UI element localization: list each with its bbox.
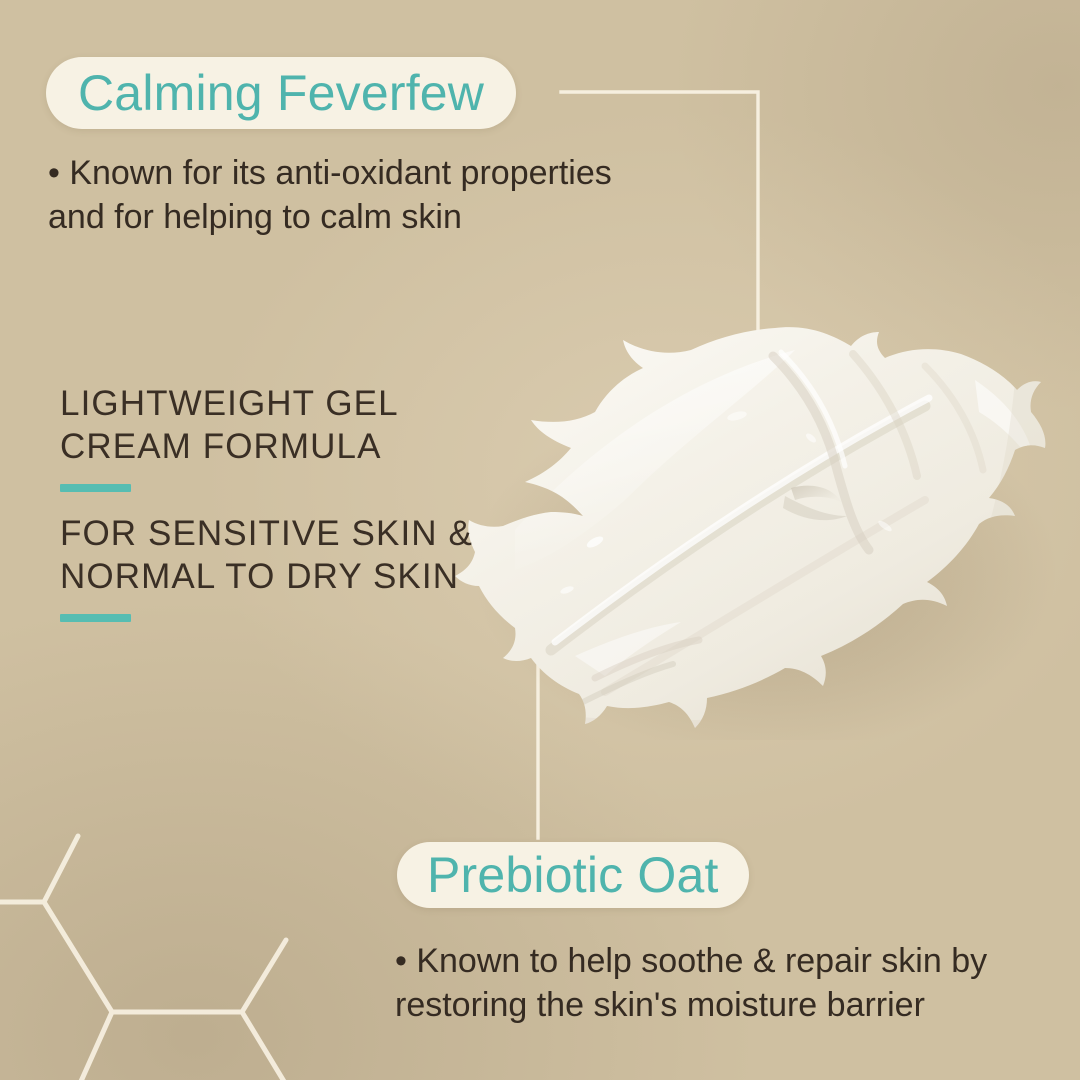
- feature-line: NORMAL TO DRY SKIN: [60, 555, 473, 598]
- feature-for-sensitive-skin: FOR SENSITIVE SKIN & NORMAL TO DRY SKIN: [60, 512, 473, 622]
- cream-swatch: [455, 320, 1055, 740]
- feature-lightweight-gel-cream-formula: LIGHTWEIGHT GEL CREAM FORMULA: [60, 382, 399, 492]
- infographic-canvas: Calming Feverfew • Known for its anti-ox…: [0, 0, 1080, 1080]
- feature-line: CREAM FORMULA: [60, 425, 399, 468]
- feature-divider-rule: [60, 614, 131, 622]
- feature-line: LIGHTWEIGHT GEL: [60, 382, 399, 425]
- callout-bullets-prebiotic-oat: • Known to help soothe & repair skin by …: [395, 940, 1045, 1027]
- feature-divider-rule: [60, 484, 131, 492]
- callout-label: Calming Feverfew: [78, 68, 484, 118]
- callout-bullets-calming-feverfew: • Known for its anti-oxidant properties …: [48, 152, 688, 239]
- bullet-line: restoring the skin's moisture barrier: [395, 984, 1045, 1028]
- bullet-line: and for helping to calm skin: [48, 196, 688, 240]
- bullet-line: • Known for its anti-oxidant properties: [48, 152, 688, 196]
- bullet-line: • Known to help soothe & repair skin by: [395, 940, 1045, 984]
- callout-pill-calming-feverfew[interactable]: Calming Feverfew: [46, 57, 516, 129]
- callout-pill-prebiotic-oat[interactable]: Prebiotic Oat: [397, 842, 749, 908]
- feature-line: FOR SENSITIVE SKIN &: [60, 512, 473, 555]
- honeycomb-pattern: [0, 820, 380, 1080]
- callout-label: Prebiotic Oat: [427, 850, 719, 900]
